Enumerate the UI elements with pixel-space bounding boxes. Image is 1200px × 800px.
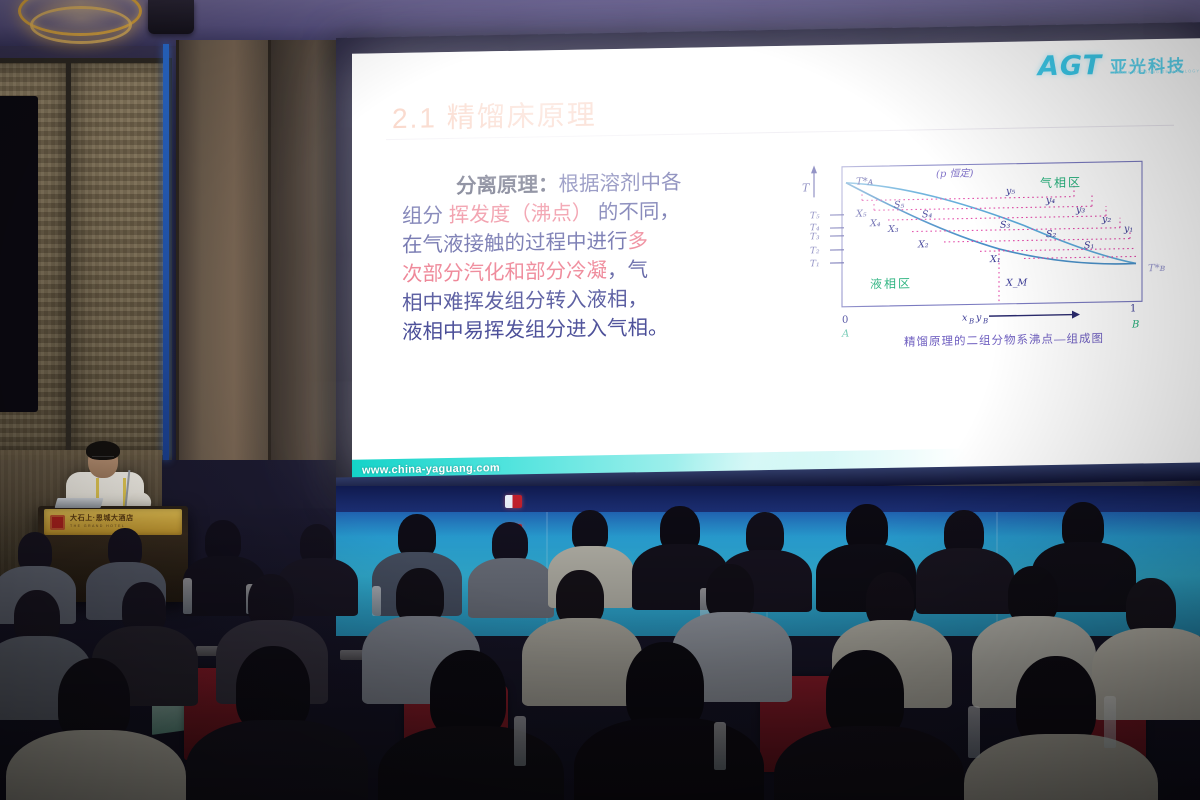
body-line4-highlight: 次部分汽化和部分冷凝 — [402, 259, 607, 286]
logo-tagline: CHINA YAGUANG TECHNOLOGY — [1114, 68, 1200, 75]
body-line1: 根据溶剂中各 — [559, 171, 682, 196]
projection-screen: AGT 亚光科技 CHINA YAGUANG TECHNOLOGY 2.1 精馏… — [352, 38, 1200, 486]
phase-diagram: T T₅ T₄ T₃ T₂ T₁ — [784, 151, 1184, 368]
blue-accent-strip — [163, 44, 169, 460]
ceiling-speaker — [148, 0, 194, 34]
xtick-0: 0 — [842, 315, 848, 326]
pressure-annotation: (p 恒定) — [936, 167, 973, 180]
stage-s5: S₅ — [894, 200, 905, 211]
body-line2-highlight: 挥发度（沸点） — [449, 201, 593, 227]
ytick-t3: T₃ — [810, 232, 820, 242]
liquid-region-label: 液相区 — [870, 276, 912, 292]
vapor-region-label: 气相区 — [1040, 174, 1082, 190]
x-axis-label-y: y — [975, 312, 982, 323]
point-y2: y₂ — [1101, 214, 1111, 225]
body-line3-highlight: 多 — [628, 229, 649, 252]
body-line2b: 的不同， — [592, 200, 680, 225]
point-x2: X₂ — [917, 239, 929, 250]
stage-s3: S₃ — [1000, 220, 1011, 231]
slide-title: 2.1 精馏床原理 — [392, 93, 597, 137]
stage-s1: S₁ — [1084, 240, 1094, 251]
point-y4: y₄ — [1045, 195, 1055, 206]
agt-logo: AGT 亚光科技 — [1038, 49, 1186, 83]
body-line6: 液相中易挥发组分进入气相。 — [402, 311, 754, 346]
point-y5: y₅ — [1005, 186, 1015, 197]
x-axis-label-sub-b2: B — [982, 317, 988, 325]
body-line2a: 组分 — [402, 204, 449, 228]
ytick-t1: T₁ — [810, 259, 820, 269]
chandelier-inner-ring — [30, 6, 132, 44]
audience-shadow-overlay — [0, 500, 1200, 800]
phase-diagram-svg: T T₅ T₄ T₃ T₂ T₁ — [784, 151, 1184, 358]
wall-display — [0, 96, 38, 412]
slide-body-text: 分离原理：根据溶剂中各 组分 挥发度（沸点） 的不同， 在气液接触的过程中进行多… — [402, 166, 754, 346]
point-x4: X₄ — [869, 218, 881, 229]
point-x3: X₃ — [887, 224, 899, 235]
body-lead: 分离原理： — [456, 173, 559, 198]
logo-brand-text: AGT — [1038, 50, 1102, 82]
xtick-1: 1 — [1130, 303, 1136, 314]
x-axis-label-sub-b: B — [968, 317, 974, 325]
ytick-t2: T₂ — [810, 246, 820, 256]
tstar-b-label: T*ʙ — [1148, 263, 1166, 274]
svg-text:T: T — [802, 181, 811, 194]
lattice-panel-left-2 — [66, 58, 172, 460]
point-y1: y₁ — [1123, 223, 1133, 234]
tstar-a-label: T*ᴀ — [856, 176, 874, 187]
point-x5: X₅ — [855, 208, 867, 219]
point-y3: y₃ — [1075, 204, 1085, 215]
feed-label: X_M — [1005, 277, 1028, 288]
body-line3a: 在气液接触的过程中进行 — [402, 230, 628, 257]
point-x1: X₁ — [989, 254, 1001, 265]
speaker-glasses — [92, 456, 114, 463]
stage-s2: S₂ — [1046, 229, 1057, 240]
audience — [0, 500, 1200, 800]
conference-photo: AGT 亚光科技 CHINA YAGUANG TECHNOLOGY 2.1 精馏… — [0, 0, 1200, 800]
x-axis-label: x — [962, 313, 968, 324]
ytick-t5: T₅ — [810, 211, 820, 221]
wood-wall-panel — [176, 40, 274, 460]
body-line4b: ，气 — [607, 258, 648, 282]
stage-s4: S₄ — [922, 209, 933, 220]
